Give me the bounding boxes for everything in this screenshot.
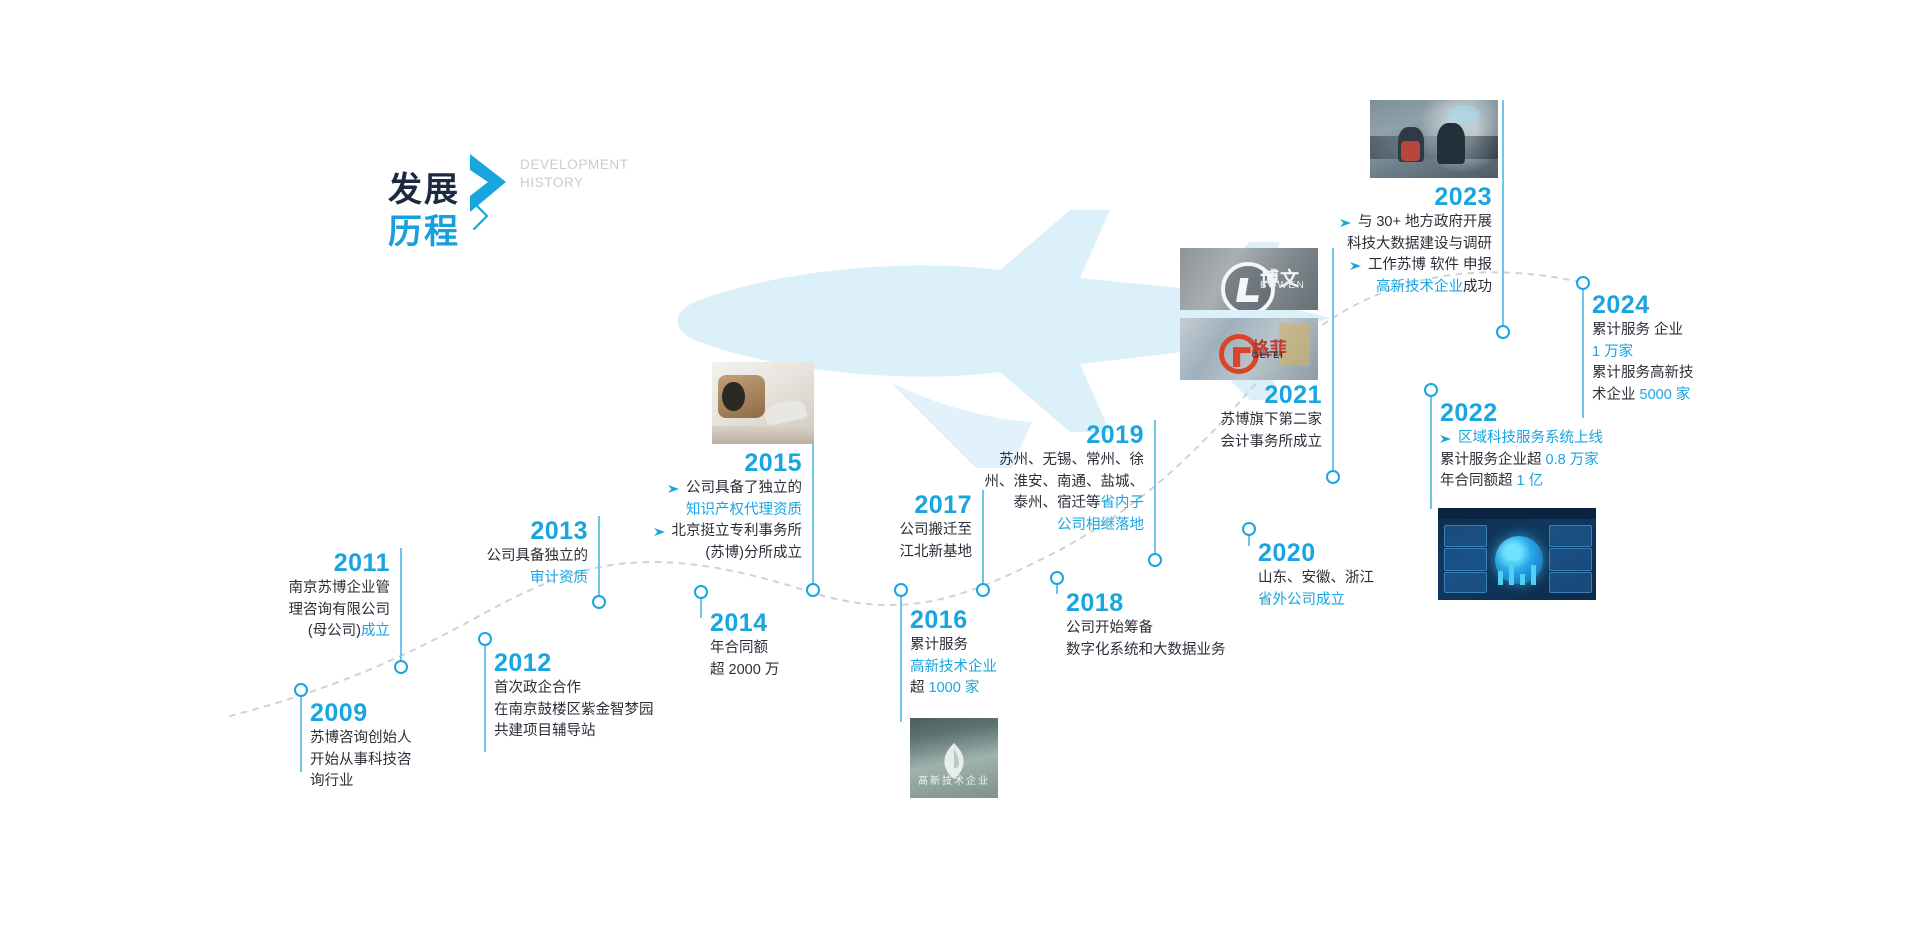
timeline-stem-2023 bbox=[1502, 100, 1504, 328]
arrow-bullet-icon bbox=[654, 521, 667, 542]
milestone-line-highlight: 1000 家 bbox=[929, 680, 980, 696]
milestone-line: 共建项目辅导站 bbox=[494, 721, 824, 743]
milestone-2015[interactable]: 2015 公司具备了独立的 知识产权代理资质 北京挺立专利事务所 (苏博)分所成… bbox=[540, 448, 802, 564]
timeline-stem-2009 bbox=[300, 690, 302, 772]
milestone-line-highlight: 1 万家 bbox=[1592, 342, 1812, 364]
milestone-line: 北京挺立专利事务所 bbox=[672, 521, 803, 543]
timeline-stem-2022 bbox=[1430, 391, 1432, 509]
milestone-body: 首次政企合作 在南京鼓楼区紫金智梦园 共建项目辅导站 bbox=[494, 678, 824, 743]
milestone-line: 累计服务 企业 bbox=[1592, 320, 1812, 342]
arrow-bullet-icon bbox=[1440, 428, 1453, 449]
milestone-bullet: 公司具备了独立的 bbox=[540, 478, 802, 500]
milestone-line: 在南京鼓楼区紫金智梦园 bbox=[494, 700, 824, 722]
milestone-line: 累计服务企业超 0.8 万家 bbox=[1440, 450, 1690, 472]
milestone-line: 年合同额 bbox=[710, 638, 900, 660]
milestone-line: 会计事务所成立 bbox=[1140, 432, 1322, 454]
page-title-block: 发展 历程 DEVELOPMENT HISTORY bbox=[320, 148, 640, 248]
certificate-caption: 高新技术企业 bbox=[910, 772, 998, 787]
milestone-line: 南京苏博企业管 bbox=[140, 578, 390, 600]
milestone-body: 公司开始筹备 数字化系统和大数据业务 bbox=[1066, 618, 1386, 661]
milestone-2022[interactable]: 2022 区域科技服务系统上线 累计服务企业超 0.8 万家 年合同额超 1 亿 bbox=[1440, 398, 1690, 493]
timeline-node-2020[interactable] bbox=[1242, 522, 1256, 536]
page-title-en: DEVELOPMENT HISTORY bbox=[520, 156, 629, 192]
milestone-line-highlight: 5000 家 bbox=[1640, 387, 1691, 403]
milestone-line: 苏州、无锡、常州、徐 bbox=[940, 450, 1144, 472]
milestone-line: 术企业 5000 家 bbox=[1592, 385, 1812, 407]
page-title-cn-line2: 历程 bbox=[320, 204, 460, 253]
milestone-line-highlight: 0.8 万家 bbox=[1546, 452, 1599, 468]
chevron-right-small-icon bbox=[470, 200, 492, 232]
milestone-year: 2014 bbox=[710, 608, 900, 638]
milestone-year: 2019 bbox=[940, 420, 1144, 450]
milestone-body: 年合同额 超 2000 万 bbox=[710, 638, 900, 681]
milestone-line-highlight: 公司相继落地 bbox=[940, 515, 1144, 537]
milestone-2011[interactable]: 2011 南京苏博企业管 理咨询有限公司 (母公司)成立 bbox=[140, 548, 390, 643]
milestone-line: 超 1000 家 bbox=[910, 678, 1120, 700]
milestone-line: (母公司)成立 bbox=[140, 621, 390, 643]
milestone-line: 公司开始筹备 bbox=[1066, 618, 1386, 640]
milestone-line: 首次政企合作 bbox=[494, 678, 824, 700]
milestone-line-highlight: 高新技术企业 bbox=[1376, 279, 1463, 295]
milestone-body: 苏博旗下第二家 会计事务所成立 bbox=[1140, 410, 1322, 453]
milestone-line: 苏博旗下第二家 bbox=[1140, 410, 1322, 432]
milestone-2020[interactable]: 2020 山东、安徽、浙江 省外公司成立 bbox=[1258, 538, 1478, 611]
timeline-node-2009[interactable] bbox=[294, 683, 308, 697]
page-title-en-line1: DEVELOPMENT bbox=[520, 156, 629, 174]
milestone-line-highlight: 省外公司成立 bbox=[1258, 590, 1478, 612]
milestone-line: 询行业 bbox=[310, 771, 550, 793]
milestone-line: 超 2000 万 bbox=[710, 660, 900, 682]
arrow-bullet-icon bbox=[668, 478, 681, 499]
timeline-node-2016[interactable] bbox=[894, 583, 908, 597]
timeline-stem-2016 bbox=[900, 590, 902, 722]
milestone-line: 泰州、宿迁等省内子 bbox=[940, 493, 1144, 515]
patent-device-photo bbox=[712, 362, 814, 444]
milestone-bullet: 区域科技服务系统上线 bbox=[1440, 428, 1690, 450]
timeline-node-2023[interactable] bbox=[1496, 325, 1510, 339]
milestone-year: 2015 bbox=[540, 448, 802, 478]
timeline-node-2019[interactable] bbox=[1148, 553, 1162, 567]
high-tech-certificate-photo: 高新技术企业 bbox=[910, 718, 998, 798]
arrow-bullet-icon bbox=[1340, 212, 1353, 233]
milestone-body: 南京苏博企业管 理咨询有限公司 (母公司)成立 bbox=[140, 578, 390, 643]
milestone-line: 科技大数据建设与调研 bbox=[1250, 234, 1492, 256]
milestone-line-highlight: 1 亿 bbox=[1517, 473, 1544, 489]
gefei-logo-photo: 格菲 GEFEI bbox=[1180, 318, 1318, 380]
timeline-node-2011[interactable] bbox=[394, 660, 408, 674]
timeline-node-2024[interactable] bbox=[1576, 276, 1590, 290]
milestone-line: 数字化系统和大数据业务 bbox=[1066, 640, 1386, 662]
milestone-line: 公司具备了独立的 bbox=[686, 478, 802, 500]
gefei-brand-sub: GEFEI bbox=[1252, 350, 1284, 360]
timeline-node-2015[interactable] bbox=[806, 583, 820, 597]
milestone-year: 2024 bbox=[1592, 290, 1812, 320]
milestone-line: 工作苏博 软件 申报 bbox=[1368, 255, 1492, 277]
milestone-bullet: 北京挺立专利事务所 bbox=[540, 521, 802, 543]
milestone-body: 山东、安徽、浙江 省外公司成立 bbox=[1258, 568, 1478, 611]
page-title-en-line2: HISTORY bbox=[520, 174, 629, 192]
milestone-2024[interactable]: 2024 累计服务 企业 1 万家 累计服务高新技 术企业 5000 家 bbox=[1592, 290, 1812, 406]
milestone-2023[interactable]: 2023 与 30+ 地方政府开展 科技大数据建设与调研 工作苏博 软件 申报 … bbox=[1250, 182, 1492, 298]
office-meeting-photo bbox=[1370, 100, 1498, 178]
milestone-line-highlight: 区域科技服务系统上线 bbox=[1458, 428, 1603, 450]
milestone-year: 2021 bbox=[1140, 380, 1322, 410]
timeline-node-2013[interactable] bbox=[592, 595, 606, 609]
milestone-bullet: 工作苏博 软件 申报 bbox=[1250, 255, 1492, 277]
milestone-line: 年合同额超 1 亿 bbox=[1440, 471, 1690, 493]
milestone-line-highlight: 审计资质 bbox=[370, 568, 588, 590]
timeline-node-2012[interactable] bbox=[478, 632, 492, 646]
milestone-year: 2020 bbox=[1258, 538, 1478, 568]
milestone-body: 公司具备了独立的 知识产权代理资质 北京挺立专利事务所 (苏博)分所成立 bbox=[540, 478, 802, 564]
milestone-line-highlight: 成立 bbox=[361, 623, 390, 639]
timeline-node-2021[interactable] bbox=[1326, 470, 1340, 484]
milestone-year: 2011 bbox=[140, 548, 390, 578]
timeline-node-2014[interactable] bbox=[694, 585, 708, 599]
development-history-infographic: 博文 BOWEN 格菲 GEFEI 高新技术企业 bbox=[0, 0, 1920, 951]
milestone-line-highlight: 省内子 bbox=[1101, 495, 1145, 511]
milestone-body: 累计服务 企业 1 万家 累计服务高新技 术企业 5000 家 bbox=[1592, 320, 1812, 406]
timeline-node-2018[interactable] bbox=[1050, 571, 1064, 585]
milestone-line: (苏博)分所成立 bbox=[540, 543, 802, 565]
milestone-body: 与 30+ 地方政府开展 科技大数据建设与调研 工作苏博 软件 申报 高新技术企… bbox=[1250, 212, 1492, 298]
arrow-bullet-icon bbox=[1350, 255, 1363, 276]
milestone-line-highlight: 知识产权代理资质 bbox=[540, 500, 802, 522]
milestone-line: 州、淮安、南通、盐城、 bbox=[940, 472, 1144, 494]
milestone-line: 江北新基地 bbox=[800, 542, 972, 564]
milestone-body: 区域科技服务系统上线 累计服务企业超 0.8 万家 年合同额超 1 亿 bbox=[1440, 428, 1690, 493]
milestone-2014[interactable]: 2014 年合同额 超 2000 万 bbox=[710, 608, 900, 681]
milestone-body: 苏州、无锡、常州、徐 州、淮安、南通、盐城、 泰州、宿迁等省内子 公司相继落地 bbox=[940, 450, 1144, 536]
timeline-node-2017[interactable] bbox=[976, 583, 990, 597]
milestone-year: 2023 bbox=[1250, 182, 1492, 212]
timeline-node-2022[interactable] bbox=[1424, 383, 1438, 397]
milestone-2021[interactable]: 2021 苏博旗下第二家 会计事务所成立 bbox=[1140, 380, 1322, 453]
milestone-line: 高新技术企业成功 bbox=[1250, 277, 1492, 299]
milestone-line: 理咨询有限公司 bbox=[140, 600, 390, 622]
milestone-bullet: 与 30+ 地方政府开展 bbox=[1250, 212, 1492, 234]
milestone-line: 开始从事科技咨 bbox=[310, 750, 550, 772]
milestone-line: 山东、安徽、浙江 bbox=[1258, 568, 1478, 590]
milestone-2019[interactable]: 2019 苏州、无锡、常州、徐 州、淮安、南通、盐城、 泰州、宿迁等省内子 公司… bbox=[940, 420, 1144, 536]
milestone-line: 与 30+ 地方政府开展 bbox=[1358, 212, 1492, 234]
milestone-line: 累计服务高新技 bbox=[1592, 363, 1812, 385]
